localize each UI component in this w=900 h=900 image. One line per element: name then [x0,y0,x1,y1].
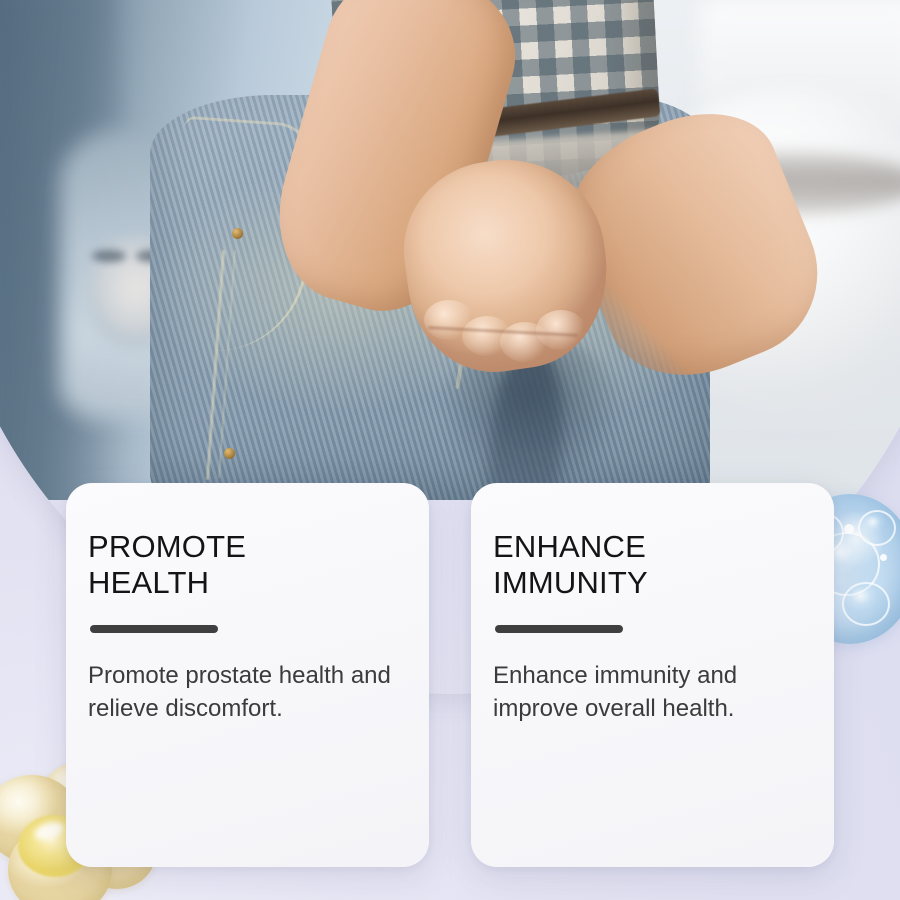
bubble [858,510,896,546]
feature-card-enhance-immunity: ENHANCE IMMUNITY Enhance immunity and im… [471,483,834,867]
feature-card-title: ENHANCE IMMUNITY [493,529,808,601]
feature-card-divider [495,625,623,633]
feature-card-row: PROMOTE HEALTH Promote prostate health a… [66,483,834,867]
bubble-sparkle [880,554,887,561]
jeans-rivet-bottom [224,448,235,459]
feature-card-title: PROMOTE HEALTH [88,529,403,601]
jeans-rivet-top [232,228,243,239]
feature-card-promote-health: PROMOTE HEALTH Promote prostate health a… [66,483,429,867]
feature-card-body: Promote prostate health and relieve disc… [88,659,398,725]
hero-photo-inner [0,0,900,500]
feature-card-body: Enhance immunity and improve overall hea… [493,659,803,725]
feature-card-divider [90,625,218,633]
bubble [842,582,890,626]
brush-holder-detail-left [92,250,126,262]
bubble-sparkle [844,524,854,534]
promo-banner: PROMOTE HEALTH Promote prostate health a… [0,0,900,900]
knuckle [536,310,586,350]
